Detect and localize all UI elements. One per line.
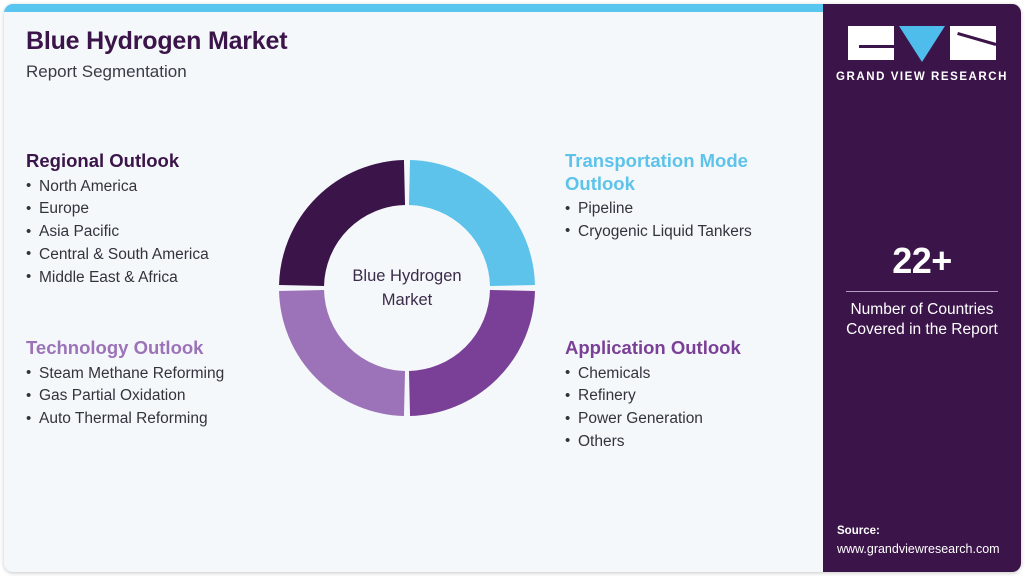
gvr-logo: GRAND VIEW RESEARCH xyxy=(823,26,1021,83)
brand-panel: GRAND VIEW RESEARCH 22+ Number of Countr… xyxy=(823,4,1021,572)
segment-title-regional: Regional Outlook xyxy=(26,150,209,173)
source-url: www.grandviewresearch.com xyxy=(837,541,1021,559)
list-item: Refinery xyxy=(565,385,741,408)
logo-letter-v-triangle-icon xyxy=(899,26,945,62)
list-item: Central & South America xyxy=(26,244,209,267)
segment-transportation-mode-outlook: Transportation Mode Outlook Pipeline Cry… xyxy=(565,150,815,244)
list-item: Chemicals xyxy=(565,363,741,386)
list-item: Cryogenic Liquid Tankers xyxy=(565,221,815,244)
segment-application-outlook: Application Outlook Chemicals Refinery P… xyxy=(565,337,741,454)
segment-title-transportation: Transportation Mode Outlook xyxy=(565,150,815,195)
source-block: Source: www.grandviewresearch.com xyxy=(837,524,1021,558)
segment-list-regional: North America Europe Asia Pacific Centra… xyxy=(26,176,209,290)
stat-value: 22+ xyxy=(823,242,1021,280)
stat-label-line-1: Number of Countries xyxy=(823,300,1021,321)
donut-segment-technology xyxy=(302,291,405,394)
logo-letter-g-icon xyxy=(848,26,894,60)
segment-regional-outlook: Regional Outlook North America Europe As… xyxy=(26,150,209,289)
report-card: Blue Hydrogen Market Report Segmentation… xyxy=(4,4,1021,572)
stat-countries: 22+ Number of Countries Covered in the R… xyxy=(823,242,1021,341)
accent-top-strip xyxy=(4,4,823,12)
segment-title-technology: Technology Outlook xyxy=(26,337,224,360)
donut-segment-regional xyxy=(302,183,405,286)
list-item: Steam Methane Reforming xyxy=(26,363,224,386)
donut-chart-svg xyxy=(278,144,536,432)
list-item: Asia Pacific xyxy=(26,221,209,244)
segment-list-transportation: Pipeline Cryogenic Liquid Tankers xyxy=(565,198,815,244)
list-item: Europe xyxy=(26,198,209,221)
list-item: North America xyxy=(26,176,209,199)
list-item: Gas Partial Oxidation xyxy=(26,385,224,408)
page-title: Blue Hydrogen Market xyxy=(26,26,287,56)
stat-divider xyxy=(846,291,998,292)
segment-list-application: Chemicals Refinery Power Generation Othe… xyxy=(565,363,741,454)
gvr-logo-wordmark: GRAND VIEW RESEARCH xyxy=(823,71,1021,83)
list-item: Power Generation xyxy=(565,408,741,431)
donut-segment-application xyxy=(410,291,513,394)
donut-segment-transportation xyxy=(410,183,513,286)
gvr-logo-marks xyxy=(823,26,1021,62)
logo-letter-r-icon xyxy=(950,26,996,60)
segment-technology-outlook: Technology Outlook Steam Methane Reformi… xyxy=(26,337,224,431)
list-item: Middle East & Africa xyxy=(26,267,209,290)
page-subtitle: Report Segmentation xyxy=(26,62,287,82)
list-item: Pipeline xyxy=(565,198,815,221)
header: Blue Hydrogen Market Report Segmentation xyxy=(26,26,287,82)
list-item: Auto Thermal Reforming xyxy=(26,408,224,431)
donut-chart: Blue Hydrogen Market xyxy=(278,144,536,432)
list-item: Others xyxy=(565,431,741,454)
infographic-canvas: Blue Hydrogen Market Report Segmentation… xyxy=(0,0,1025,576)
source-label: Source: xyxy=(837,524,1021,540)
stat-label-line-2: Covered in the Report xyxy=(823,320,1021,341)
segment-title-application: Application Outlook xyxy=(565,337,741,360)
segment-list-technology: Steam Methane Reforming Gas Partial Oxid… xyxy=(26,363,224,431)
